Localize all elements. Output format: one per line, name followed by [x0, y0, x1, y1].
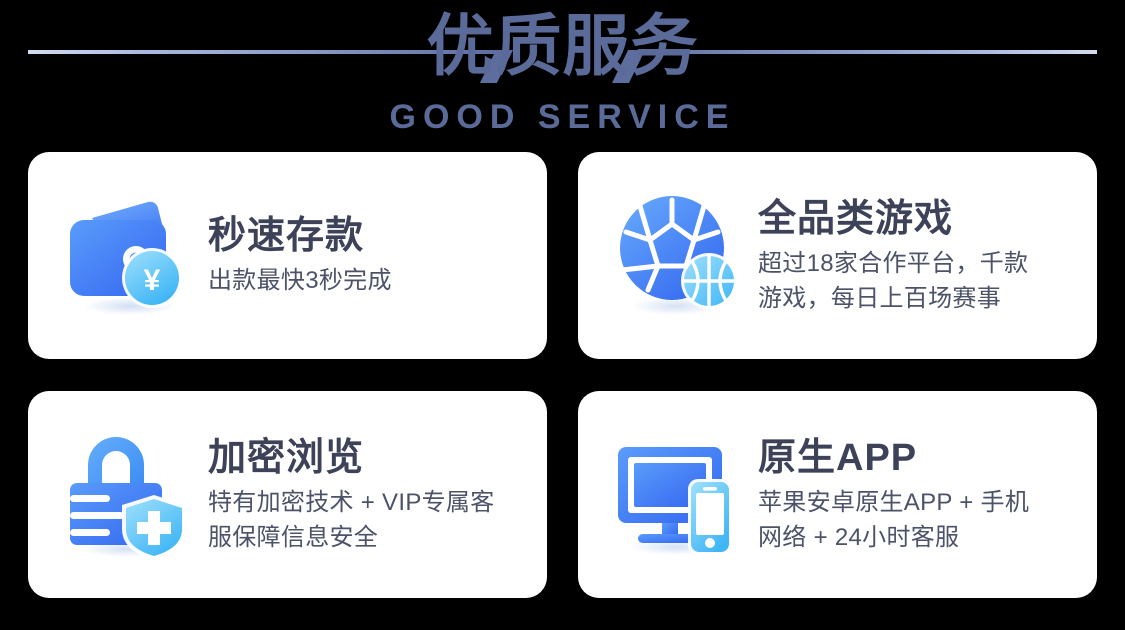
feature-card-grid: ¥ 秒速存款 出款最快3秒完成: [28, 152, 1097, 598]
card-desc-line: 超过18家合作平台，千款: [758, 246, 1071, 281]
card-title: 加密浏览: [208, 435, 521, 481]
feature-card-games[interactable]: 全品类游戏 超过18家合作平台，千款 游戏，每日上百场赛事: [578, 152, 1097, 359]
card-desc-line: 网络 + 24小时客服: [758, 520, 1071, 555]
card-desc-line: 出款最快3秒完成: [208, 263, 521, 298]
card-text-block: 秒速存款 出款最快3秒完成: [208, 213, 521, 298]
header: 优质服务 GOOD SERVICE: [0, 0, 1125, 150]
promo-banner: 优质服务 GOOD SERVICE: [0, 0, 1125, 630]
monitor-icon: [612, 429, 744, 561]
card-title: 全品类游戏: [758, 196, 1071, 242]
feature-card-encryption[interactable]: 加密浏览 特有加密技术 + VIP专属客 服保障信息安全: [28, 391, 547, 598]
card-title: 秒速存款: [208, 213, 521, 259]
card-desc-line: 特有加密技术 + VIP专属客: [208, 485, 521, 520]
page-title: 优质服务: [0, 8, 1125, 86]
card-title: 原生APP: [758, 435, 1071, 481]
card-text-block: 加密浏览 特有加密技术 + VIP专属客 服保障信息安全: [208, 435, 521, 555]
soccer-ball-icon: [612, 190, 744, 322]
feature-card-native-app[interactable]: 原生APP 苹果安卓原生APP + 手机 网络 + 24小时客服: [578, 391, 1097, 598]
page-subtitle: GOOD SERVICE: [0, 97, 1125, 137]
card-desc-line: 服保障信息安全: [208, 520, 521, 555]
svg-text:¥: ¥: [144, 264, 161, 297]
lock-icon: [62, 429, 194, 561]
feature-card-deposit[interactable]: ¥ 秒速存款 出款最快3秒完成: [28, 152, 547, 359]
wallet-icon: ¥: [62, 190, 194, 322]
card-text-block: 全品类游戏 超过18家合作平台，千款 游戏，每日上百场赛事: [758, 196, 1071, 316]
card-text-block: 原生APP 苹果安卓原生APP + 手机 网络 + 24小时客服: [758, 435, 1071, 555]
card-desc-line: 游戏，每日上百场赛事: [758, 281, 1071, 316]
card-desc-line: 苹果安卓原生APP + 手机: [758, 485, 1071, 520]
